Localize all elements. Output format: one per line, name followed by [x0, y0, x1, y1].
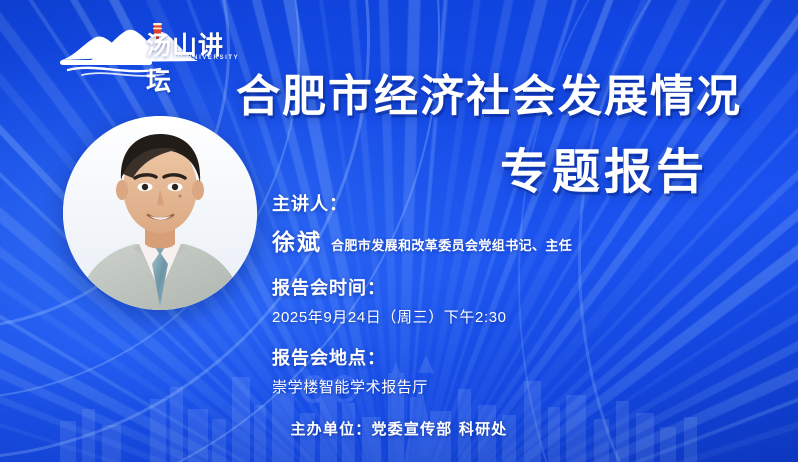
event-info-block: 主讲人： 徐斌 合肥市发展和改革委员会党组书记、主任 报告会时间： 2025年9… — [272, 190, 692, 397]
speaker-row: 徐斌 合肥市发展和改革委员会党组书记、主任 — [272, 223, 692, 257]
organizer-footer: 主办单位：党委宣传部 科研处 — [0, 418, 798, 439]
logo-title-zh: 汤山讲坛 — [146, 26, 238, 98]
spacer — [272, 257, 692, 274]
speaker-portrait-photo — [63, 116, 257, 310]
place-label: 报告会地点： — [272, 344, 692, 370]
speaker-position: 合肥市发展和改革委员会党组书记、主任 — [331, 235, 572, 254]
time-label: 报告会时间： — [272, 274, 692, 300]
poster-title-line1: 合肥市经济社会发展情况 — [236, 60, 742, 124]
time-value: 2025年9月24日（周三）下午2:30 — [272, 306, 692, 327]
logo-subtitle-en: CHAOHU UNIVERSITY — [148, 55, 239, 61]
place-value: 崇学楼智能学术报告厅 — [272, 376, 692, 397]
site-logo[interactable]: 汤山讲坛 CHAOHU UNIVERSITY — [60, 22, 238, 80]
speaker-name: 徐斌 — [272, 223, 322, 257]
speaker-portrait — [63, 116, 257, 310]
speaker-label: 主讲人： — [272, 190, 692, 216]
spacer — [272, 327, 692, 344]
poster-canvas: 汤山讲坛 CHAOHU UNIVERSITY 合肥市经济社会发展情况 专题报告 — [0, 0, 798, 462]
